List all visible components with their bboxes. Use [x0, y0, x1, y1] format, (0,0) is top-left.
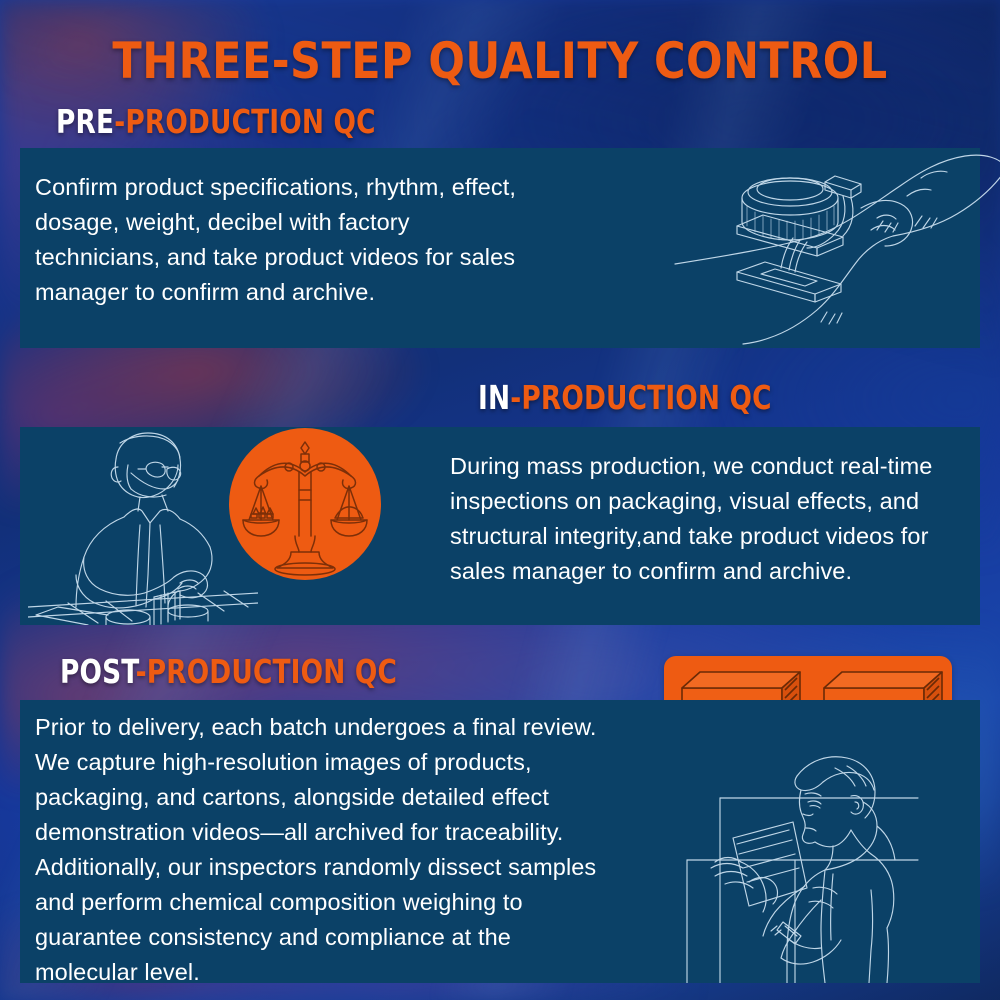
balance-scale-badge: [229, 428, 381, 580]
step-heading-post-production-white: POST: [60, 652, 136, 691]
step-heading-pre-production-orange: -PRODUCTION QC: [114, 102, 375, 141]
panel-post-production-body: Prior to delivery, each batch undergoes …: [35, 710, 685, 990]
infographic-poster: THREE-STEP QUALITY CONTROL PRE-PRODUCTIO…: [0, 0, 1000, 1000]
inspector-with-tablet-icon: [675, 750, 995, 983]
panel-pre-production-body: Confirm product specifications, rhythm, …: [35, 170, 655, 310]
step-heading-pre-production-white: PRE: [56, 102, 114, 141]
step-heading-in-production-white: IN: [478, 378, 510, 417]
hand-holding-component-icon: [665, 144, 1000, 349]
panel-in-production: During mass production, we conduct real-…: [20, 427, 980, 625]
panel-in-production-body: During mass production, we conduct real-…: [450, 449, 990, 589]
step-heading-pre-production: PRE-PRODUCTION QC: [56, 102, 376, 141]
step-heading-post-production: POST-PRODUCTION QC: [60, 652, 397, 691]
step-heading-in-production: IN-PRODUCTION QC: [478, 378, 772, 417]
worker-inspecting-products-icon: [28, 425, 258, 625]
panel-pre-production: Confirm product specifications, rhythm, …: [20, 148, 980, 348]
step-heading-in-production-orange: -PRODUCTION QC: [510, 378, 771, 417]
page-title: THREE-STEP QUALITY CONTROL: [70, 32, 930, 90]
panel-post-production: Prior to delivery, each batch undergoes …: [20, 700, 980, 983]
step-heading-post-production-orange: -PRODUCTION QC: [136, 652, 397, 691]
